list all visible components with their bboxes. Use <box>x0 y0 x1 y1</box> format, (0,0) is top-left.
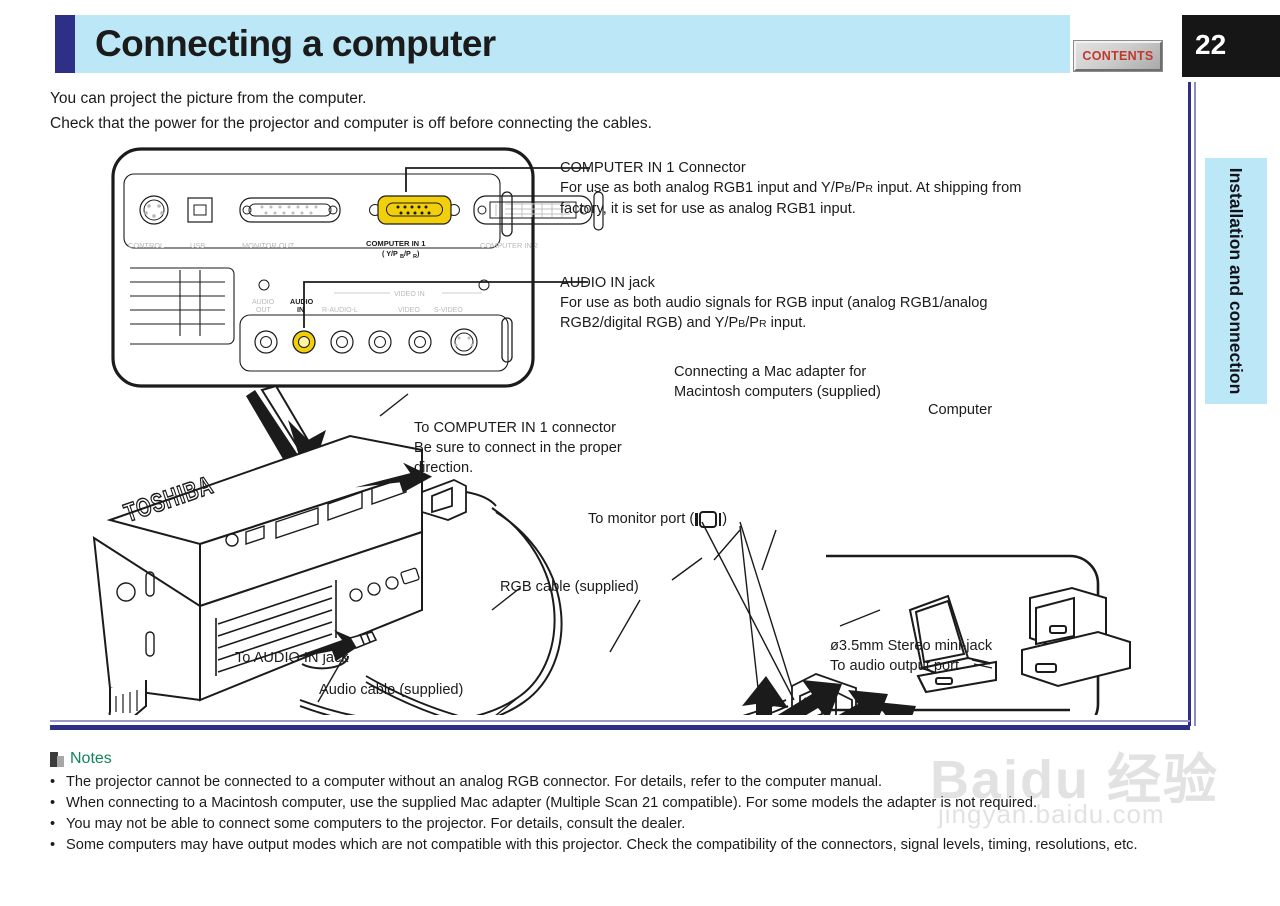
callout-to-computer-in-1: To COMPUTER IN 1 connector Be sure to co… <box>414 418 622 478</box>
rgb-plug-projector <box>422 480 496 520</box>
callout-computer: Computer <box>928 400 992 420</box>
callout-computer-in-1-body: For use as both analog RGB1 input and Y/… <box>560 178 1021 199</box>
note-item: • You may not be able to connect some co… <box>50 814 1210 835</box>
page-header: Connecting a computer <box>55 15 1070 73</box>
callout-monitor-port-end: ) <box>722 509 727 529</box>
callout-computer-in-1-title: COMPUTER IN 1 Connector <box>560 158 1021 178</box>
side-tab-label: Installation and connection <box>1205 158 1267 404</box>
intro-line-1: You can project the picture from the com… <box>50 86 810 111</box>
svg-text:AUDIO: AUDIO <box>252 299 275 306</box>
ain-l2a: RGB2/digital RGB) and Y/P <box>560 315 738 331</box>
callout-audio-in-body1: For use as both audio signals for RGB in… <box>560 293 988 313</box>
monitor-port-icon <box>695 511 721 528</box>
svg-text:VIDEO IN: VIDEO IN <box>394 291 425 298</box>
callout-audio-in-title: AUDIO IN jack <box>560 273 988 293</box>
note-bullet: • <box>50 793 66 814</box>
callout-mac-adapter-line1: Connecting a Mac adapter for <box>674 362 881 382</box>
intro-text: You can project the picture from the com… <box>50 86 810 136</box>
note-text: When connecting to a Macintosh computer,… <box>66 793 1210 814</box>
computer-in-1-connector-highlight <box>370 196 460 224</box>
callout-mini-jack: ø3.5mm Stereo mini-jack To audio output … <box>830 636 992 676</box>
callout-to-cin1-line1: To COMPUTER IN 1 connector <box>414 418 622 438</box>
ain-l2c: /P <box>745 315 759 331</box>
cin1-l1c: /P <box>852 180 866 196</box>
callout-monitor-port: To monitor port ( ) <box>588 509 727 529</box>
right-rail-line-secondary <box>1194 82 1196 726</box>
svg-text:S-VIDEO: S-VIDEO <box>434 307 463 314</box>
cin1-sub-b: B <box>845 183 852 195</box>
note-bullet: • <box>50 814 66 835</box>
callout-to-cin1-line3: direction. <box>414 458 622 478</box>
svg-text:MONITOR OUT: MONITOR OUT <box>242 241 295 250</box>
svg-text:): ) <box>417 249 420 258</box>
callout-audio-cable: Audio cable (supplied) <box>319 680 463 700</box>
svg-text:/P: /P <box>404 249 411 258</box>
projector-illustration: TOSHIBA <box>94 436 422 715</box>
notes-icon <box>50 752 64 767</box>
svg-text:( Y/P: ( Y/P <box>382 249 398 258</box>
contents-button[interactable]: CONTENTS <box>1074 41 1162 71</box>
desktop-illustration <box>1022 588 1130 686</box>
intro-line-2: Check that the power for the projector a… <box>50 111 810 136</box>
footer-rule-thick <box>50 725 1190 730</box>
callout-audio-in-body2: RGB2/digital RGB) and Y/PB/PR input. <box>560 313 988 334</box>
svg-text:USB: USB <box>190 241 205 250</box>
audio-in-jack-highlight <box>293 331 315 353</box>
callout-rgb-cable: RGB cable (supplied) <box>500 577 639 597</box>
note-text: The projector cannot be connected to a c… <box>66 772 1210 793</box>
note-bullet: • <box>50 772 66 793</box>
svg-text:OUT: OUT <box>256 307 272 314</box>
note-item: • Some computers may have output modes w… <box>50 835 1210 856</box>
footer-rule-thin <box>50 720 1190 722</box>
page-number-badge: 22 <box>1182 15 1280 77</box>
note-item: • The projector cannot be connected to a… <box>50 772 1210 793</box>
ain-sub-r: R <box>759 318 767 330</box>
callout-audio-in: AUDIO IN jack For use as both audio sign… <box>560 273 988 334</box>
note-item: • When connecting to a Macintosh compute… <box>50 793 1210 814</box>
header-accent-bar <box>55 15 75 73</box>
svg-text:COMPUTER IN 2: COMPUTER IN 2 <box>480 241 538 250</box>
rear-panel-detail: CONTROL USB MONITOR OUT COMPUTER IN 1 ( … <box>113 149 603 386</box>
notes-header: Notes <box>50 750 1210 768</box>
note-text: Some computers may have output modes whi… <box>66 835 1210 856</box>
svg-text:VIDEO: VIDEO <box>398 307 420 314</box>
callout-mac-adapter-line2: Macintosh computers (supplied) <box>674 382 881 402</box>
page-title: Connecting a computer <box>95 23 496 65</box>
callout-mini-jack-line2: To audio output port <box>830 656 992 676</box>
svg-text:CONTROL: CONTROL <box>128 241 164 250</box>
callout-to-audio-in: To AUDIO IN jack <box>235 648 349 668</box>
cin1-l1a: For use as both analog RGB1 input and Y/… <box>560 180 845 196</box>
note-bullet: • <box>50 835 66 856</box>
callout-mac-adapter: Connecting a Mac adapter for Macintosh c… <box>674 362 881 402</box>
manual-page: Connecting a computer CONTENTS 22 Instal… <box>0 0 1280 906</box>
callout-mini-jack-line1: ø3.5mm Stereo mini-jack <box>830 636 992 656</box>
page-number: 22 <box>1195 29 1226 61</box>
notes-title: Notes <box>70 750 112 768</box>
callout-computer-in-1: COMPUTER IN 1 Connector For use as both … <box>560 158 1021 219</box>
cin1-l1e: input. At shipping from <box>873 180 1021 196</box>
callout-computer-in-1-body2: factory, it is set for use as analog RGB… <box>560 199 1021 219</box>
cin1-sub-r: R <box>865 183 873 195</box>
svg-text:COMPUTER IN 1: COMPUTER IN 1 <box>366 239 426 248</box>
ain-l2e: input. <box>767 315 807 331</box>
svg-text:R-AUDIO-L: R-AUDIO-L <box>322 307 358 314</box>
contents-button-label: CONTENTS <box>1082 49 1153 63</box>
note-text: You may not be able to connect some comp… <box>66 814 1210 835</box>
connection-diagram: CONTROL USB MONITOR OUT COMPUTER IN 1 ( … <box>50 140 1190 715</box>
notes-section: Notes • The projector cannot be connecte… <box>50 750 1210 856</box>
callout-monitor-port-text: To monitor port ( <box>588 509 694 529</box>
callout-to-cin1-line2: Be sure to connect in the proper <box>414 438 622 458</box>
